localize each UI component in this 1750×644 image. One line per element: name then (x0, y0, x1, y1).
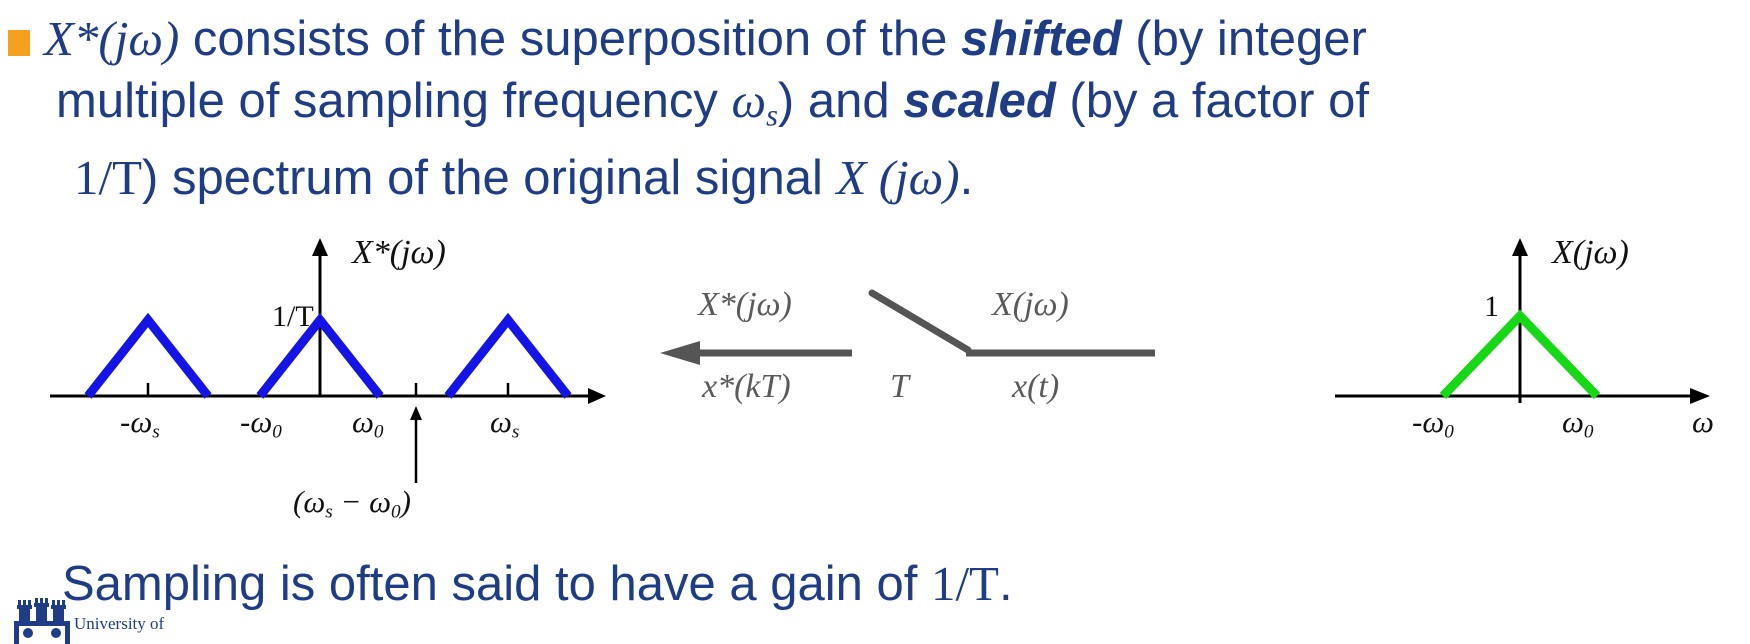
emphasis-shifted: shifted (961, 12, 1122, 66)
middle-right-top-label: X(jω) (992, 286, 1069, 324)
bullet-paragraph: X*(jω) consists of the superposition of … (44, 8, 1744, 209)
left-tick1-sub: s (152, 421, 159, 442)
left-plot-annotation-arrowhead (410, 406, 422, 420)
line2-text-1: multiple of sampling frequency (56, 74, 731, 128)
bullet-line-2: multiple of sampling frequency ωs) and s… (44, 70, 1744, 147)
left-plot-x-axis-arrowhead (588, 388, 606, 404)
line1-text-2: (by integer (1122, 12, 1367, 66)
right-plot-y-axis-arrowhead (1512, 238, 1528, 256)
line3-text-2: . (960, 151, 974, 205)
left-plot-annotation-label: (ωs − ω0) (293, 484, 411, 523)
right-plot-tick-label-neg-w0: -ω0 (1412, 404, 1454, 443)
line1-text-1: consists of the superposition of the (179, 12, 961, 66)
math-one-over-t: 1/T (74, 150, 142, 205)
annot-close: ) (401, 484, 411, 519)
logo-wordmark: University of (74, 614, 164, 634)
left-tick4-sub: s (512, 421, 519, 442)
left-tick2-sub: 0 (272, 421, 282, 442)
math-x-star-jw: X*(jω) (44, 11, 179, 66)
math-one-over-t-text: 1/T (74, 150, 142, 205)
left-tick3-base: ω (352, 404, 374, 439)
left-tick1-base: -ω (120, 404, 152, 439)
bullet-line-3: 1/T) spectrum of the original signal X (… (44, 147, 1744, 209)
right-tick1-sub: 0 (1444, 421, 1454, 442)
math-omega-s-base: ω (731, 73, 766, 128)
castle-logo-icon (12, 596, 72, 644)
left-plot-tick-label-w0: ω0 (352, 404, 384, 443)
left-plot-title: X*(jω) (352, 234, 446, 272)
closing-statement: Sampling is often said to have a gain of… (62, 556, 1013, 612)
left-plot-tick-label-ws: ωs (490, 404, 519, 443)
right-tick2-sub: 0 (1584, 421, 1594, 442)
right-plot-peak-label: 1 (1484, 290, 1499, 324)
closing-text-2: . (999, 557, 1013, 611)
right-tick2-base: ω (1562, 404, 1584, 439)
left-plot-y-axis-arrowhead (312, 238, 328, 256)
right-tick1-base: -ω (1412, 404, 1444, 439)
sampling-spectrum-figure: X*(jω) 1/T -ωs -ω0 ω0 ωs (ωs − ω0) X*(jω… (0, 228, 1750, 518)
annot-open: (ω (293, 484, 325, 519)
left-plot-tick-label-neg-w0: -ω0 (240, 404, 282, 443)
middle-switch-blade (872, 293, 968, 350)
closing-math-one-over-t: 1/T (931, 556, 999, 611)
figure-svg (0, 228, 1750, 518)
left-plot-peak-label: 1/T (272, 300, 314, 334)
middle-arrow-bottom-label: x*(kT) (702, 368, 791, 406)
left-tick2-base: -ω (240, 404, 272, 439)
university-castle-logo: University of (12, 596, 192, 644)
annot-sub1: s (325, 501, 332, 522)
emphasis-scaled: scaled (903, 74, 1056, 128)
slide-canvas: X*(jω) consists of the superposition of … (0, 0, 1750, 644)
right-plot-tick-label-w0: ω0 (1562, 404, 1594, 443)
left-tick3-sub: 0 (374, 421, 384, 442)
math-omega-s-subscript: s (766, 99, 778, 133)
left-plot-tick-label-neg-ws: -ωs (120, 404, 160, 443)
right-plot-title: X(jω) (1552, 234, 1629, 272)
middle-left-arrow-head (660, 341, 700, 365)
math-omega-s: ωs (731, 73, 777, 128)
right-plot-axis-label-omega: ω (1692, 404, 1714, 440)
math-x-jw: X (jω) (837, 150, 960, 205)
middle-right-bottom-label: x(t) (1012, 368, 1059, 406)
middle-arrow-top-label: X*(jω) (698, 286, 792, 324)
middle-switch-period-label: T (890, 368, 909, 406)
square-bullet-icon (8, 30, 30, 56)
line2-text-2: ) and (778, 74, 903, 128)
annot-mid: − ω (333, 484, 391, 519)
line2-text-3: (by a factor of (1056, 74, 1369, 128)
bullet-line-1: X*(jω) consists of the superposition of … (44, 8, 1744, 70)
annot-sub2: 0 (391, 501, 401, 522)
closing-text-1: Sampling is often said to have a gain of (62, 557, 931, 611)
line3-text-1: ) spectrum of the original signal (142, 151, 837, 205)
left-tick4-base: ω (490, 404, 512, 439)
right-plot-x-axis-arrowhead (1690, 388, 1710, 404)
